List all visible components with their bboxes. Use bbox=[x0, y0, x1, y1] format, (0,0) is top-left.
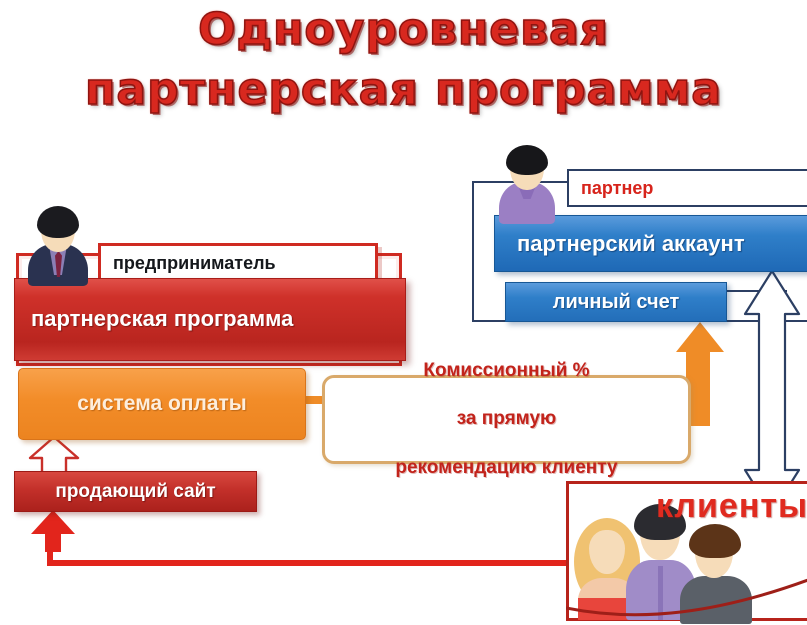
affiliate-program-text: партнерская программа bbox=[31, 305, 405, 333]
payment-system-box[interactable]: система оплаты bbox=[18, 368, 306, 440]
payment-system-text: система оплаты bbox=[19, 390, 305, 418]
avatar-hair bbox=[689, 524, 741, 558]
site-to-payment-arrow bbox=[28, 436, 80, 476]
infographic-canvas: Одноуровневая партнерская программа пред… bbox=[0, 0, 807, 625]
personal-balance-box[interactable]: личный счет bbox=[505, 282, 727, 322]
commission-line-2: за прямую bbox=[325, 407, 688, 431]
page-title: Одноуровневая партнерская программа bbox=[0, 8, 807, 112]
selling-site-box[interactable]: продающий сайт bbox=[14, 471, 257, 512]
partner-clients-double-arrow bbox=[742, 268, 802, 516]
partner-label-box: партнер bbox=[567, 169, 807, 207]
entrepreneur-label-text: предприниматель bbox=[101, 253, 375, 274]
title-line-2: партнерская программа bbox=[0, 68, 807, 112]
commission-text: Комиссионный % за прямую рекомендацию кл… bbox=[325, 359, 688, 481]
entrepreneur-label-box: предприниматель bbox=[98, 243, 378, 283]
clients-to-site-line bbox=[47, 560, 569, 566]
partner-label-text: партнер bbox=[569, 178, 807, 199]
selling-site-text: продающий сайт bbox=[15, 481, 256, 503]
personal-balance-text: личный счет bbox=[506, 291, 726, 314]
partner-avatar bbox=[497, 145, 557, 223]
clients-to-site-arrow bbox=[30, 510, 76, 552]
affiliate-program-box[interactable]: партнерская программа bbox=[14, 278, 406, 361]
title-line-1: Одноуровневая bbox=[0, 8, 807, 52]
commission-line-3: рекомендацию клиенту bbox=[325, 456, 688, 480]
clients-box-curve bbox=[566, 556, 807, 625]
clients-label: клиенты bbox=[656, 487, 807, 526]
avatar-hair bbox=[506, 145, 548, 175]
partner-account-text: партнерский аккаунт bbox=[517, 231, 807, 257]
businessman-avatar bbox=[27, 206, 89, 284]
commission-box: Комиссионный % за прямую рекомендацию кл… bbox=[322, 375, 691, 464]
avatar-hair bbox=[37, 206, 79, 238]
commission-line-1: Комиссионный % bbox=[325, 359, 688, 383]
